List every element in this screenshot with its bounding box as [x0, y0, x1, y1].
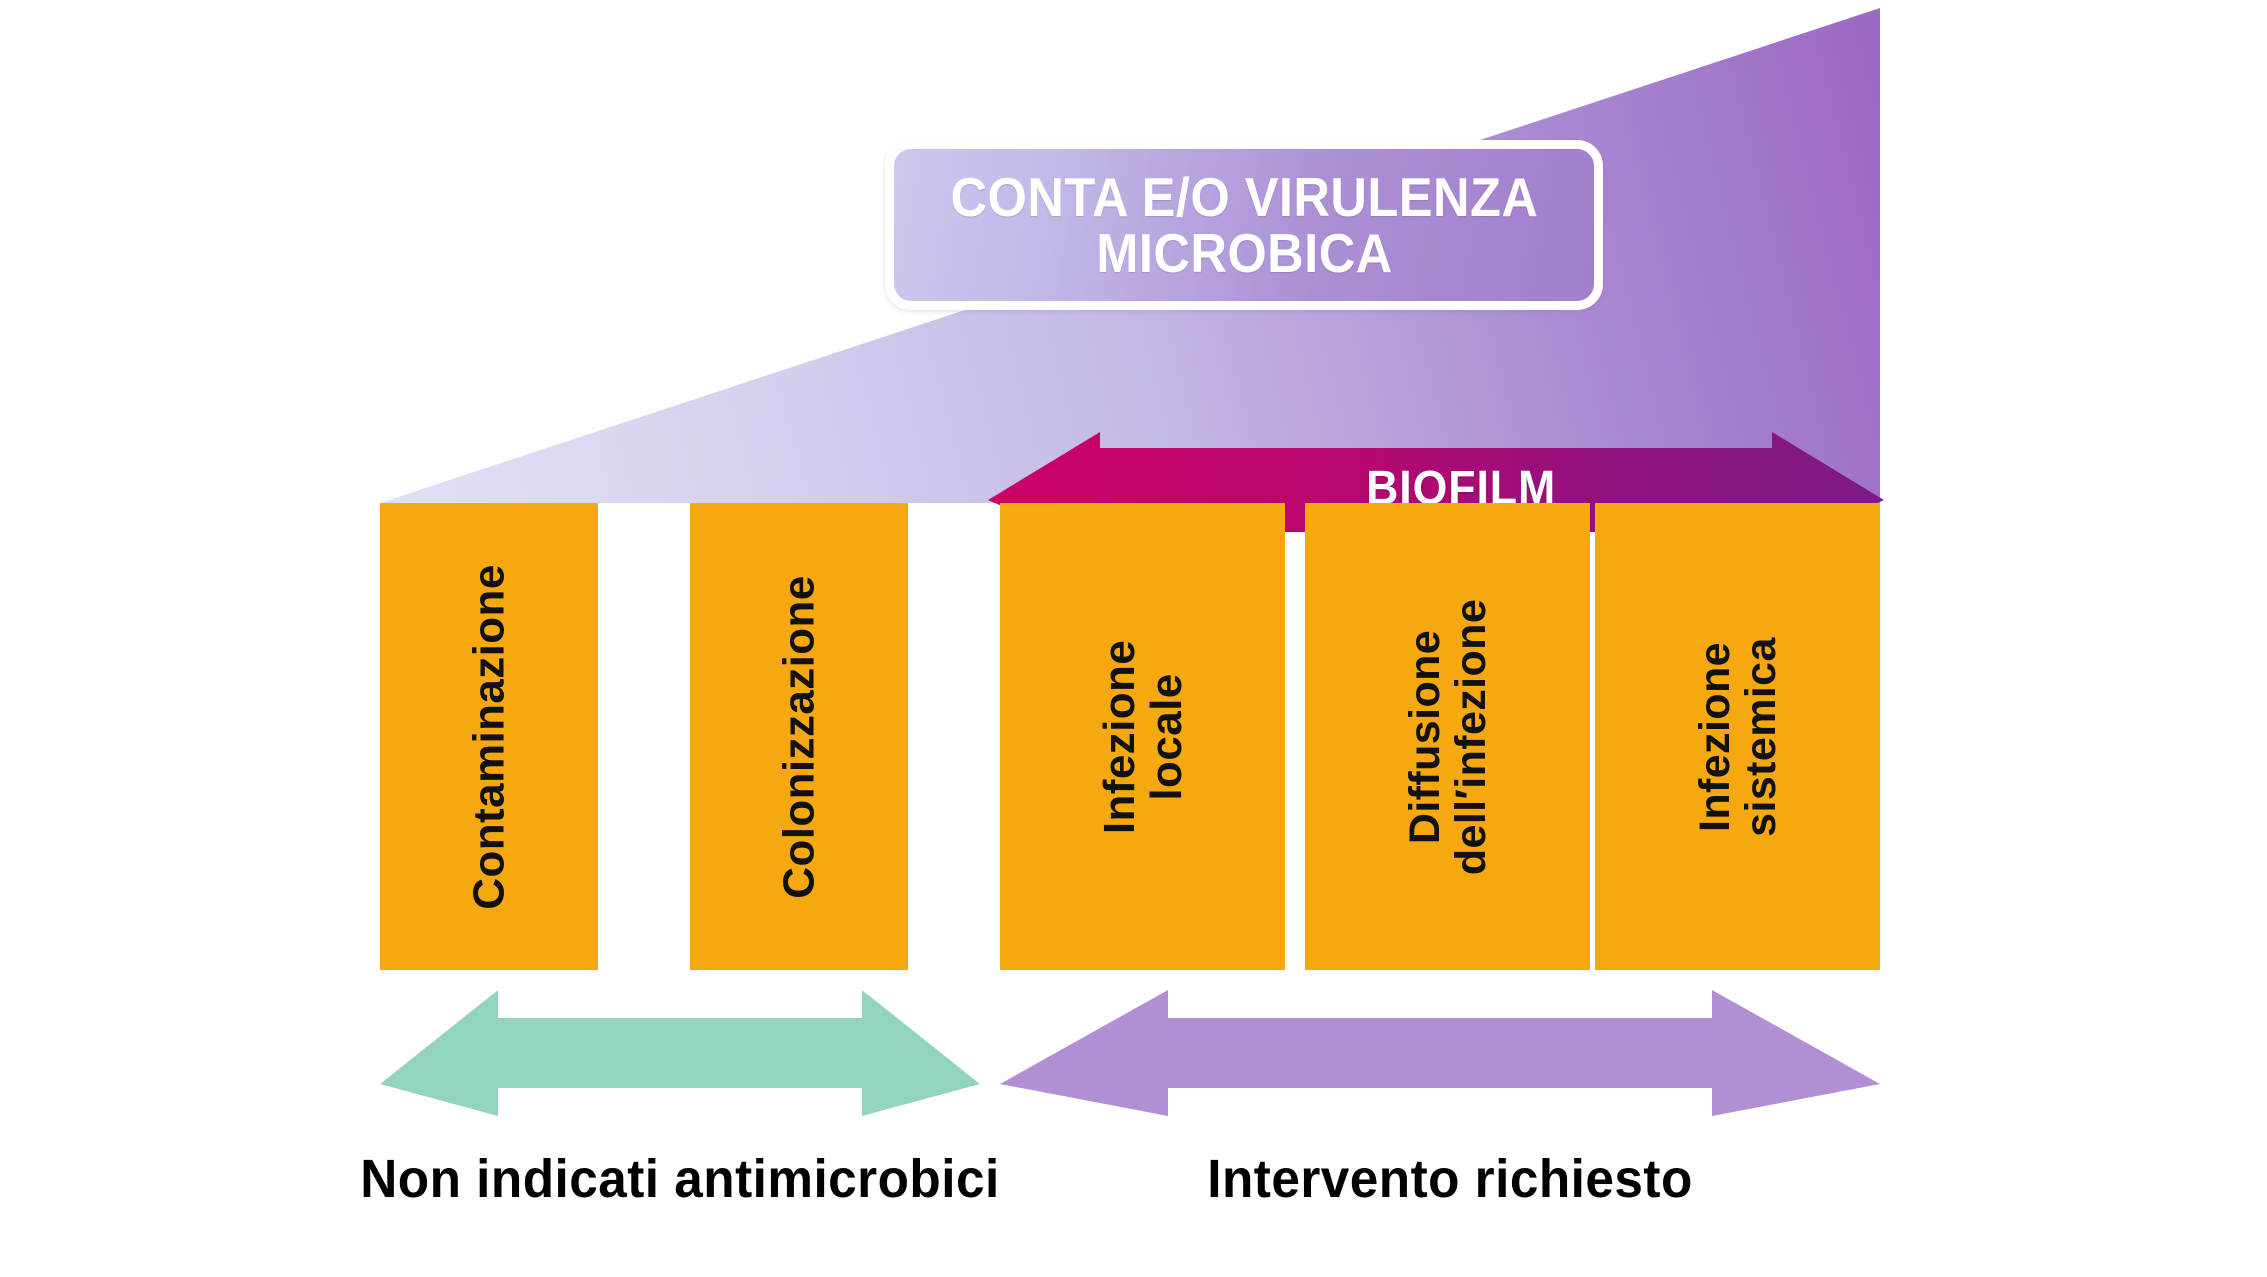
stage-box-infezione-locale[interactable]: Infezione locale [1000, 503, 1285, 970]
stage-box-infezione-sistemica[interactable]: Infezione sistemica [1595, 503, 1880, 970]
stage-label-diffusione-dell-infezione: Diffusione dell′infezione [1402, 598, 1494, 874]
stage-label-contaminazione: Contaminazione [465, 564, 512, 909]
stage-box-colonizzazione[interactable]: Colonizzazione [690, 503, 908, 970]
stage-label-infezione-locale: Infezione locale [1095, 639, 1189, 833]
wound-infection-continuum-stages: Contaminazione Colonizzazione Infezione … [380, 503, 1880, 970]
stage-box-contaminazione[interactable]: Contaminazione [380, 503, 598, 970]
stage-box-diffusione-dell-infezione[interactable]: Diffusione dell′infezione [1305, 503, 1590, 970]
no-antimicrobials-label: Non indicati antimicrobici [319, 1148, 1041, 1210]
microbial-burden-callout: CONTA E/O VIRULENZA MICROBICA [885, 140, 1603, 310]
intervention-required-arrow [1000, 988, 1880, 1118]
no-antimicrobials-arrow [380, 988, 980, 1118]
intervention-required-label: Intervento richiesto [1042, 1148, 1859, 1210]
microbial-burden-callout-label: CONTA E/O VIRULENZA MICROBICA [950, 169, 1538, 281]
stage-label-colonizzazione: Colonizzazione [775, 575, 822, 898]
figure-canvas: CONTA E/O VIRULENZA MICROBICA BIOFILM Co… [0, 0, 2267, 1277]
stage-label-infezione-sistemica: Infezione sistemica [1692, 637, 1784, 837]
